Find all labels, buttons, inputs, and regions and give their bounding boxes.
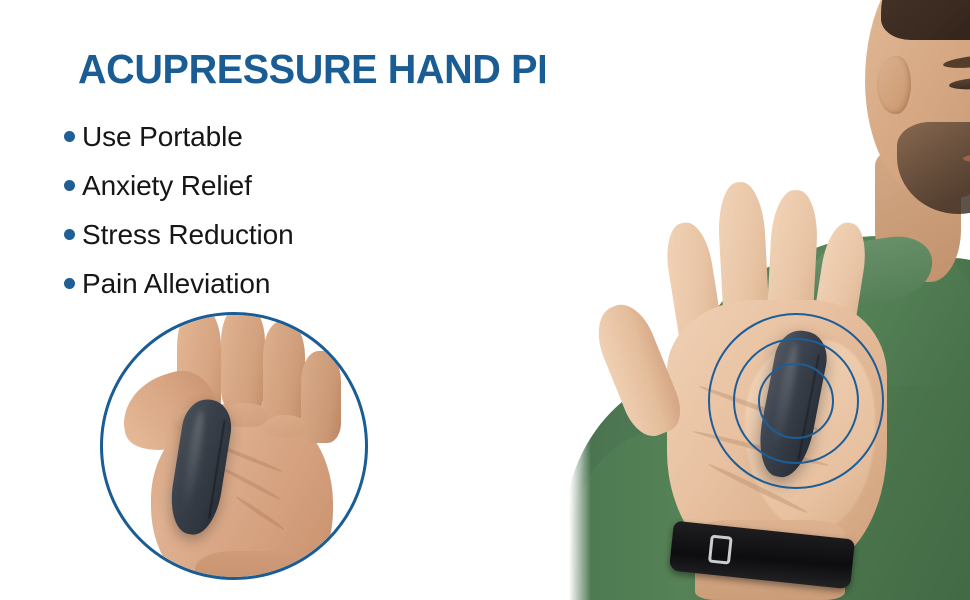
- feature-label: Stress Reduction: [82, 219, 294, 251]
- bullet-dot-icon: [64, 229, 75, 240]
- list-item: Stress Reduction: [64, 210, 484, 259]
- list-item: Use Portable: [64, 112, 484, 161]
- inset-closeup-circle: [100, 312, 368, 580]
- inset-knuckle: [263, 415, 307, 437]
- pulse-ring-outer: [708, 313, 884, 489]
- hair: [881, 0, 970, 40]
- watch-buckle-icon: [708, 535, 733, 565]
- feature-benefit-list: Use Portable Anxiety Relief Stress Reduc…: [64, 112, 484, 308]
- bullet-dot-icon: [64, 131, 75, 142]
- inset-middle-finger: [221, 315, 265, 413]
- list-item: Pain Alleviation: [64, 259, 484, 308]
- acupressure-product-banner: ACUPRESSURE HAND PRESSURE Use Portable A…: [0, 0, 970, 600]
- feature-label: Use Portable: [82, 121, 243, 153]
- inset-photo: [103, 315, 365, 577]
- inset-little-finger: [301, 351, 341, 443]
- inset-ring-finger: [263, 321, 305, 425]
- hero-photo: [545, 0, 970, 600]
- list-item: Anxiety Relief: [64, 161, 484, 210]
- bullet-dot-icon: [64, 278, 75, 289]
- feature-label: Anxiety Relief: [82, 170, 252, 202]
- ear: [877, 56, 911, 114]
- inset-wrist: [195, 551, 305, 577]
- feature-label: Pain Alleviation: [82, 268, 270, 300]
- bullet-dot-icon: [64, 180, 75, 191]
